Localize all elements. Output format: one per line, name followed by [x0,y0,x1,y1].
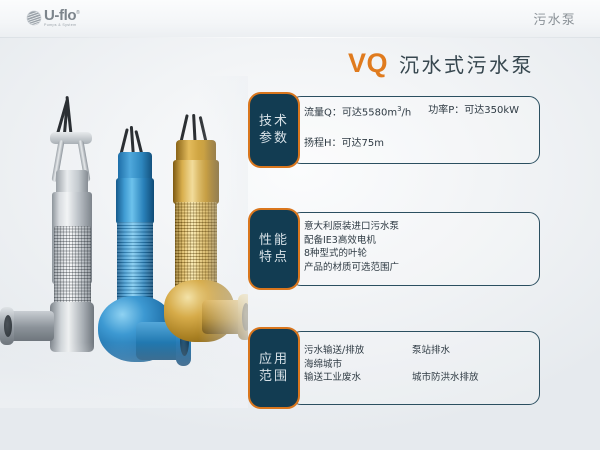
page-title: VQ 沉水式污水泵 [348,48,534,79]
pump-casing [50,302,94,352]
application-column-right: 泵站排水 城市防洪水排放 [412,344,479,385]
logo-tagline: Pumps & System [44,24,79,28]
performance-features-text: 意大利原装进口污水泵 配备IE3高效电机 8种型式的叶轮 产品的材质可选范围广 [304,220,399,274]
motor-body [173,160,219,204]
technical-parameters-block: 技术 参数 流量Q：可达5580m3/h 功率P：可达350kW 扬程H：可达7… [248,92,540,168]
label-line-2: 参数 [259,130,289,147]
page-header: U-flo® Pumps & System 污水泵 [0,0,600,38]
stainless-steel-pump [38,96,104,386]
application-item: 城市防洪水排放 [412,371,479,385]
label-line-1: 技术 [259,113,289,130]
technical-parameters-label: 技术 参数 [248,92,300,168]
application-item: 输送工业废水 [304,371,388,385]
product-name: 沉水式污水泵 [399,49,534,78]
motor-body [116,178,154,224]
application-item: 泵站排水 [412,344,479,358]
head-value: 扬程H：可达75m [304,139,519,149]
performance-features-label: 性能 特点 [248,208,300,290]
label-line-2: 特点 [259,249,289,266]
label-line-1: 性能 [259,232,289,249]
performance-features-block: 性能 特点 意大利原装进口污水泵 配备IE3高效电机 8种型式的叶轮 产品的材质… [248,208,540,290]
header-category-label: 污水泵 [533,9,576,28]
product-model: VQ [348,48,388,79]
cooling-jacket [54,226,91,304]
feature-line: 配备IE3高效电机 [304,234,399,248]
brand-logo[interactable]: U-flo® Pumps & System [26,8,79,28]
feature-line: 意大利原装进口污水泵 [304,220,399,234]
logo-wordmark: U-flo® [44,8,79,23]
feature-line: 8种型式的叶轮 [304,247,399,261]
technical-parameters-text: 流量Q：可达5580m3/h 功率P：可达350kW 扬程H：可达75m [304,106,519,149]
power-value: 功率P：可达350kW [428,106,519,118]
cooling-jacket [117,222,153,304]
flow-rate-value: 流量Q：可达5580m3/h [304,106,411,118]
application-item: 海绵城市 [304,358,388,372]
application-item: 污水输送/排放 [304,344,388,358]
bronze-pump [160,114,236,386]
application-scope-label: 应用 范围 [248,327,300,409]
lifting-plate [50,132,92,144]
cooling-jacket [175,202,217,288]
label-line-1: 应用 [259,351,289,368]
application-scope-block: 应用 范围 污水输送/排放 海绵城市 输送工业废水 泵站排水 城市防洪水排放 [248,327,540,409]
application-column-left: 污水输送/排放 海绵城市 输送工业废水 [304,344,388,385]
feature-line: 产品的材质可选范围广 [304,261,399,275]
discharge-bore [4,315,12,337]
label-line-2: 范围 [259,368,289,385]
application-scope-text: 污水输送/排放 海绵城市 输送工业废水 泵站排水 城市防洪水排放 [304,344,479,385]
globe-lines-icon [26,10,42,26]
logo-trademark: ® [76,10,79,16]
product-photo [0,38,248,408]
discharge-branch [8,311,54,341]
